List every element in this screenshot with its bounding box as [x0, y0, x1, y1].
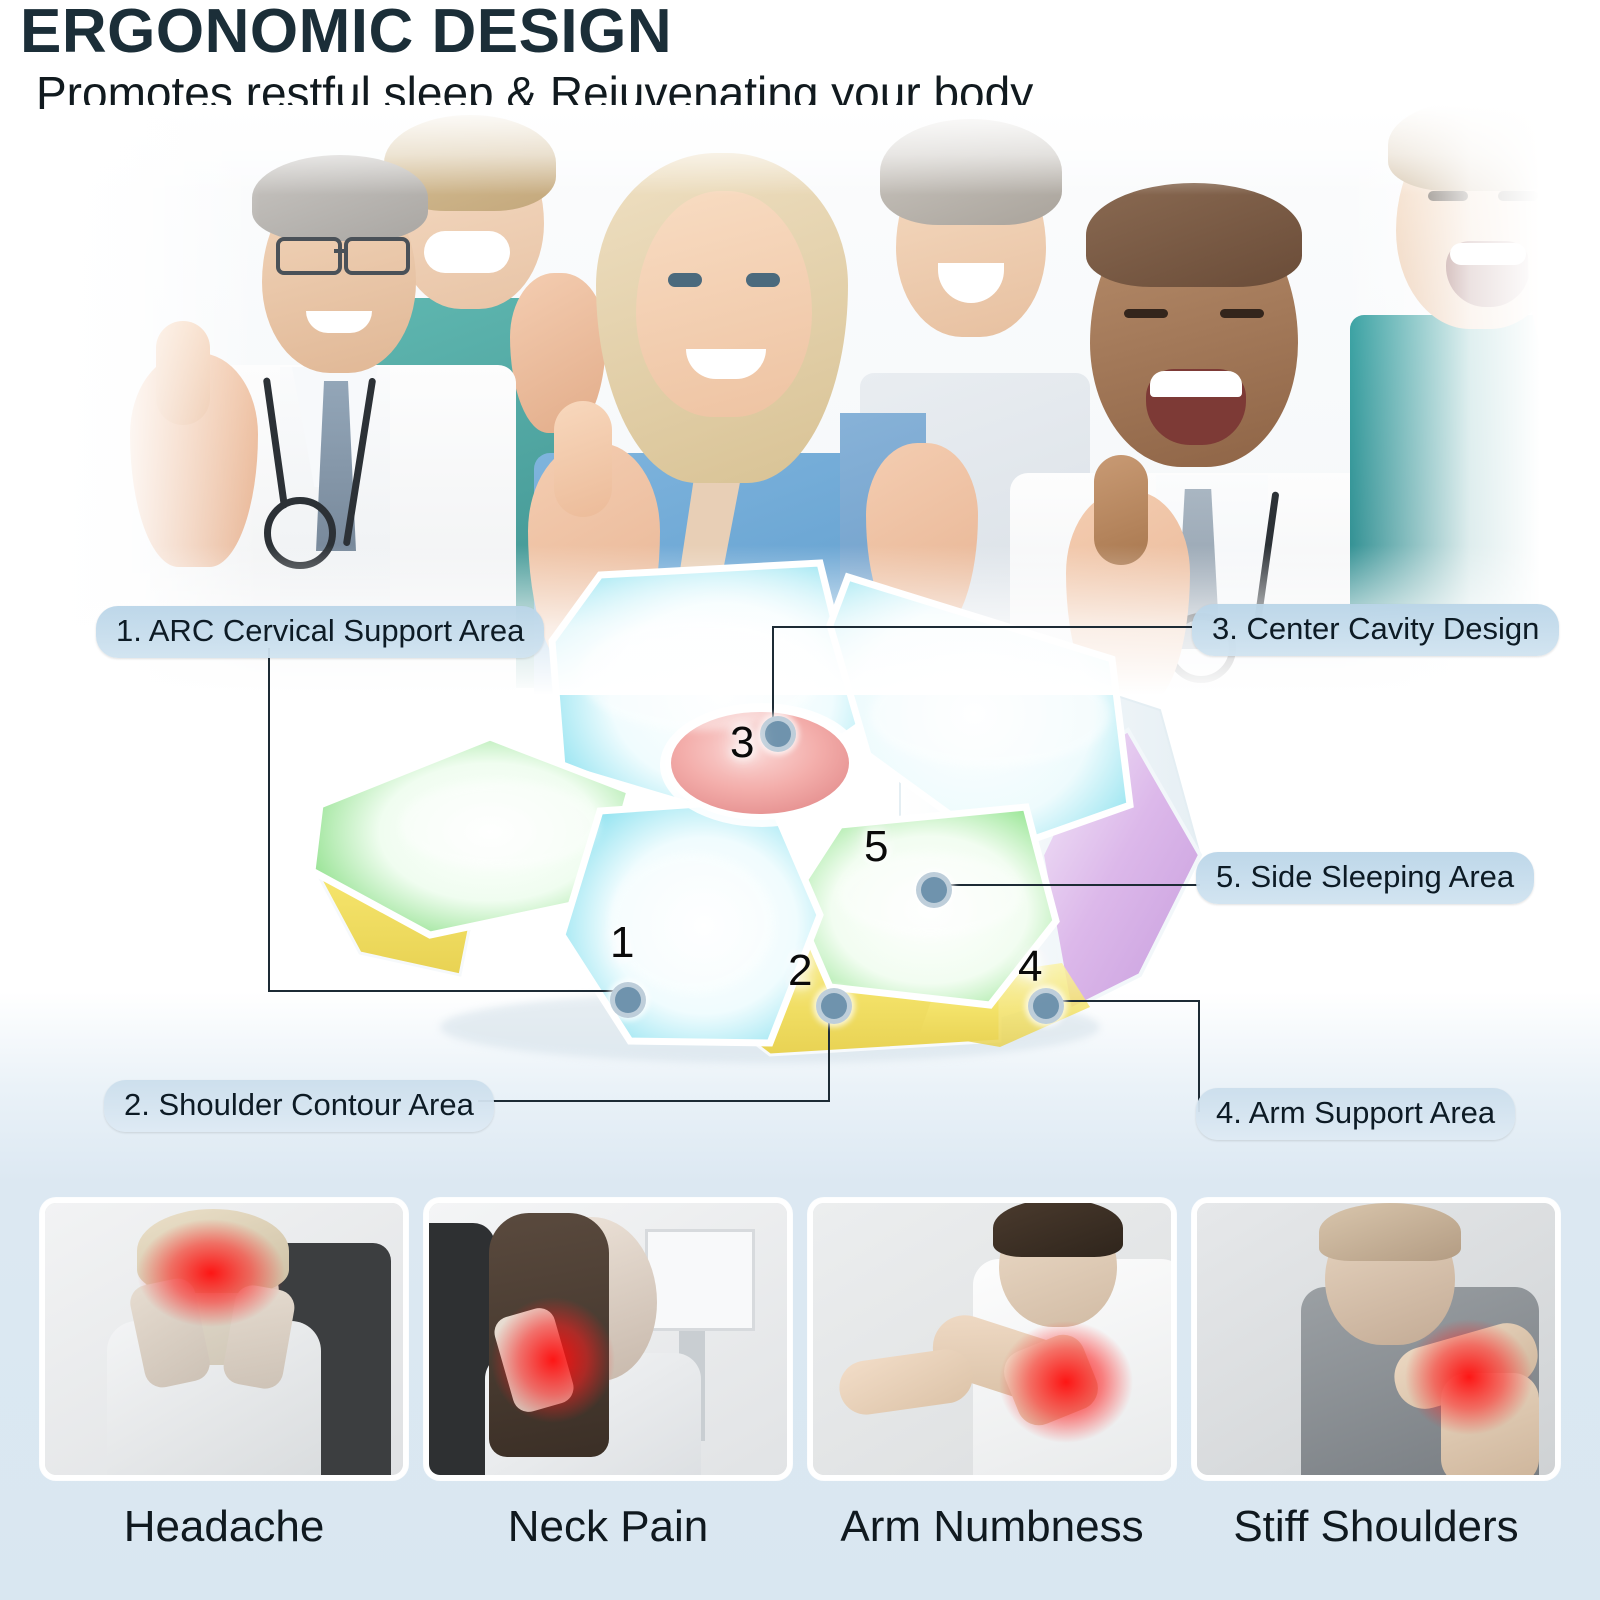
pain-glow-headache [137, 1219, 285, 1327]
marker-dot-3[interactable] [760, 716, 796, 752]
marker-number-2: 2 [788, 946, 812, 996]
symptom-caption-arm-numbness: Arm Numbness [840, 1502, 1143, 1552]
marker-number-1: 1 [610, 918, 634, 968]
infographic-page: ERGONOMIC DESIGN Promotes restful sleep … [0, 0, 1600, 1600]
callout-label-4[interactable]: 4. Arm Support Area [1196, 1088, 1515, 1140]
leader-line-4-vertical [1198, 1000, 1200, 1112]
callout-label-3[interactable]: 3. Center Cavity Design [1192, 604, 1559, 656]
marker-number-4: 4 [1018, 942, 1042, 992]
marker-number-3: 3 [730, 718, 754, 768]
symptom-caption-headache: Headache [124, 1502, 325, 1552]
symptom-photo-arm-numbness [808, 1198, 1176, 1480]
symptom-card-stiff-shoulders[interactable]: Stiff Shoulders [1192, 1198, 1560, 1578]
page-title: ERGONOMIC DESIGN [20, 0, 672, 67]
symptom-card-arm-numbness[interactable]: Arm Numbness [808, 1198, 1176, 1578]
leader-line-1-vertical [268, 648, 270, 990]
leader-line-3-horizontal [772, 626, 1192, 628]
symptom-caption-neck-pain: Neck Pain [508, 1502, 709, 1552]
marker-number-5: 5 [864, 822, 888, 872]
marker-dot-1[interactable] [610, 982, 646, 1018]
callout-label-1[interactable]: 1. ARC Cervical Support Area [96, 606, 544, 658]
symptom-caption-stiff-shoulders: Stiff Shoulders [1233, 1502, 1518, 1552]
leader-line-5-horizontal [928, 884, 1200, 886]
marker-dot-2[interactable] [816, 988, 852, 1024]
callout-label-2[interactable]: 2. Shoulder Contour Area [104, 1080, 494, 1132]
leader-line-2-horizontal [478, 1100, 830, 1102]
symptom-photo-headache [40, 1198, 408, 1480]
leader-line-1-horizontal [268, 990, 624, 992]
symptom-photo-stiff-shoulders [1192, 1198, 1560, 1480]
pain-glow-shoulder [1405, 1319, 1533, 1435]
marker-dot-4[interactable] [1028, 988, 1064, 1024]
callout-label-5[interactable]: 5. Side Sleeping Area [1196, 852, 1534, 904]
pain-glow-arm [999, 1321, 1133, 1443]
symptom-card-headache[interactable]: Headache [40, 1198, 408, 1578]
leader-line-3-vertical [772, 626, 774, 728]
symptom-card-neck-pain[interactable]: Neck Pain [424, 1198, 792, 1578]
symptom-cards: Headache Neck Pain [40, 1198, 1560, 1578]
marker-dot-5[interactable] [916, 872, 952, 908]
symptom-photo-neck-pain [424, 1198, 792, 1480]
pain-glow-neck [491, 1297, 615, 1423]
